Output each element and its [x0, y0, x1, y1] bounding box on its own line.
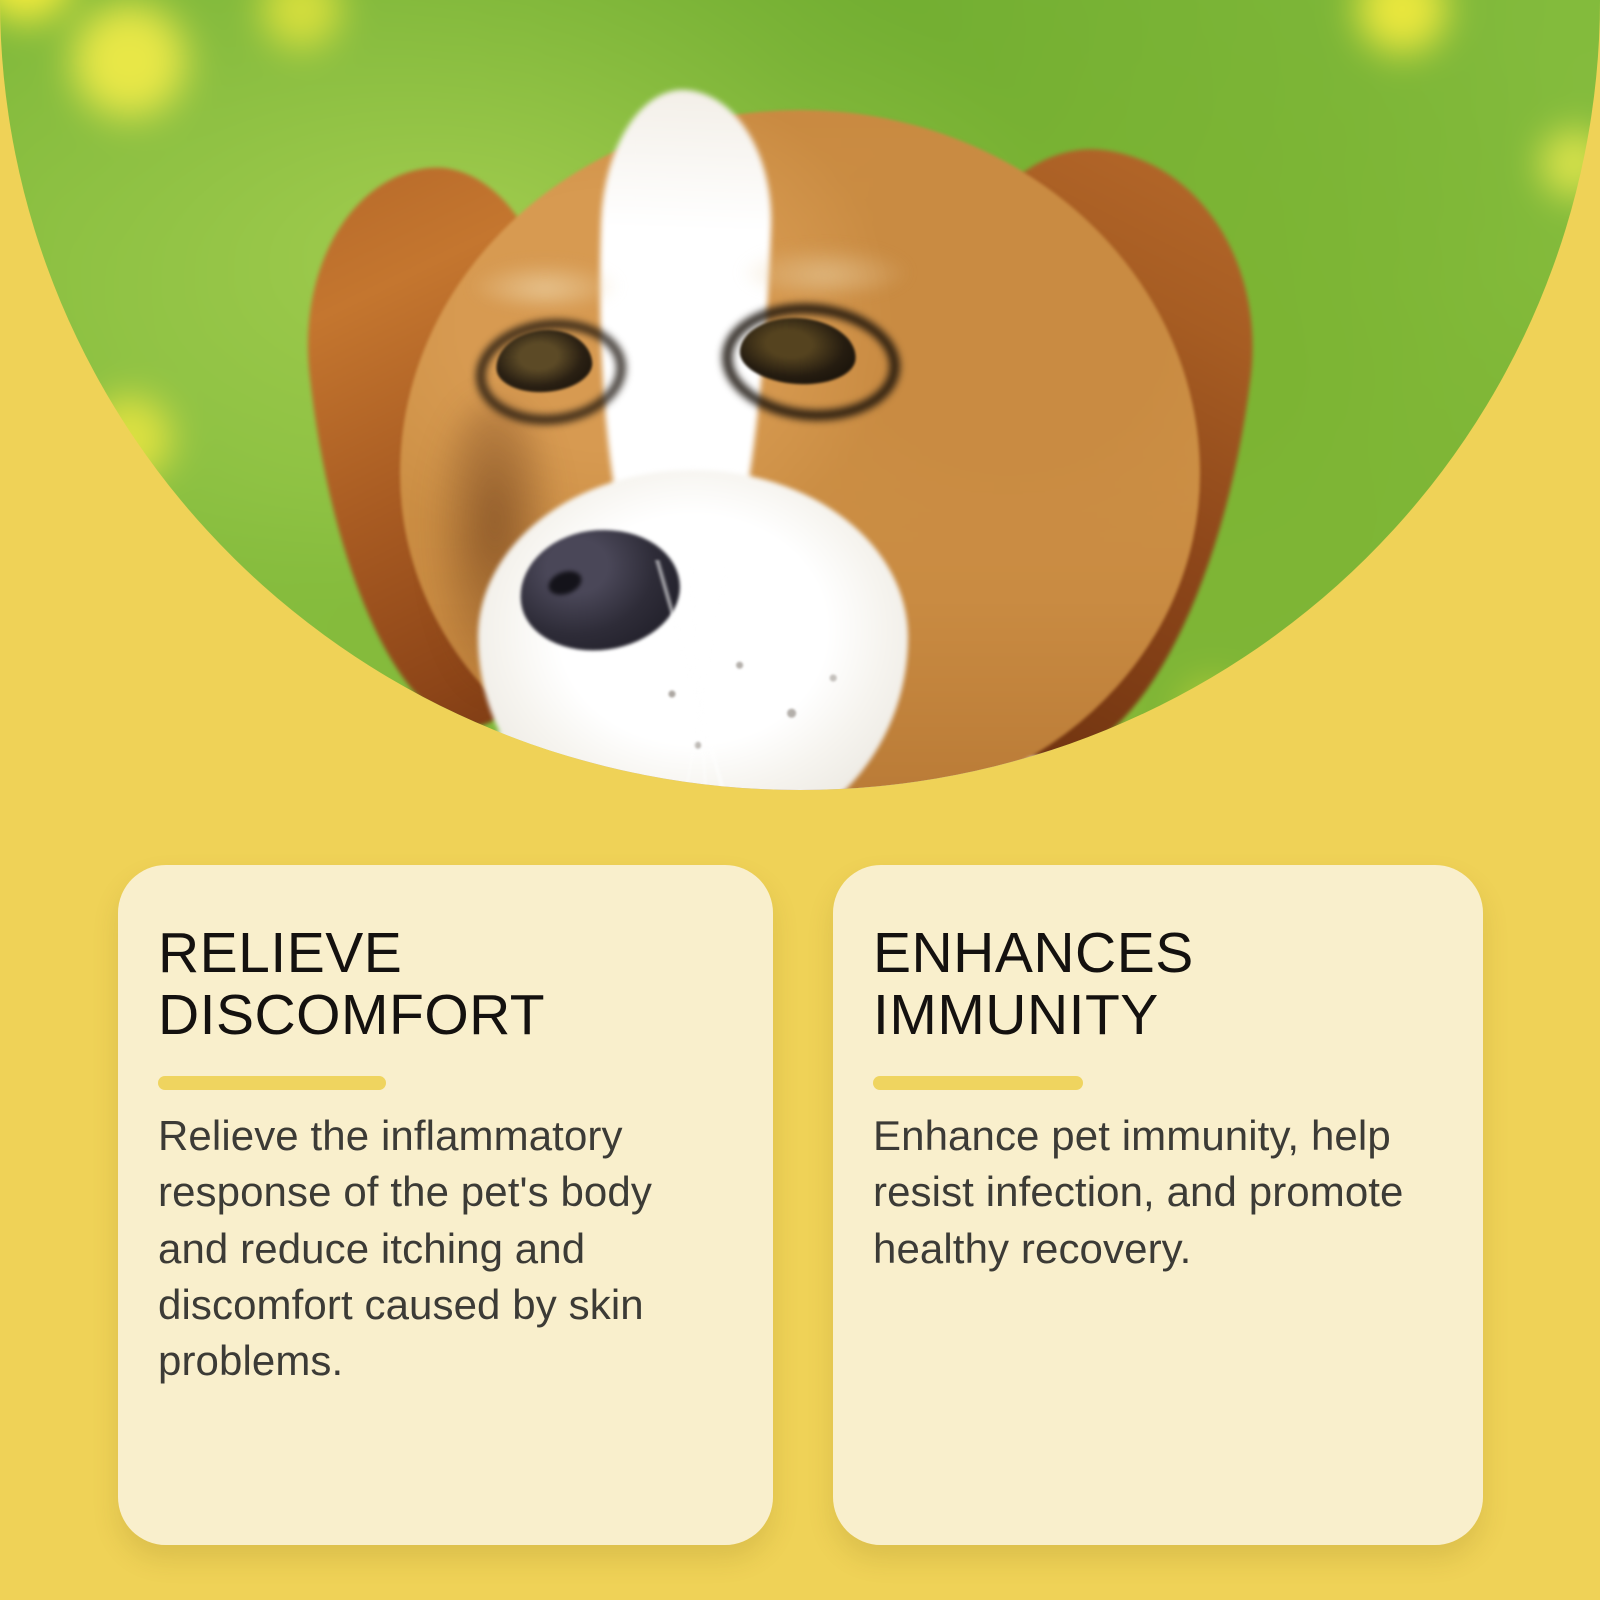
benefit-card-body: Relieve the inflammatory response of the… [158, 1108, 719, 1389]
benefit-card-title: RELIEVE DISCOMFORT [158, 923, 719, 1046]
product-benefit-poster: RELIEVE DISCOMFORT Relieve the inflammat… [0, 0, 1600, 1600]
accent-underline-bar [158, 1076, 386, 1090]
dog-left-brow [470, 262, 620, 306]
accent-underline-bar [873, 1076, 1083, 1090]
benefit-card-enhances-immunity[interactable]: ENHANCES IMMUNITY Enhance pet immunity, … [833, 865, 1483, 1545]
dog-right-brow [740, 246, 910, 294]
benefit-card-title: ENHANCES IMMUNITY [873, 923, 1429, 1046]
dog-whiskers [420, 560, 980, 860]
benefit-card-relieve-discomfort[interactable]: RELIEVE DISCOMFORT Relieve the inflammat… [118, 865, 773, 1545]
benefit-card-body: Enhance pet immunity, help resist infect… [873, 1108, 1429, 1277]
